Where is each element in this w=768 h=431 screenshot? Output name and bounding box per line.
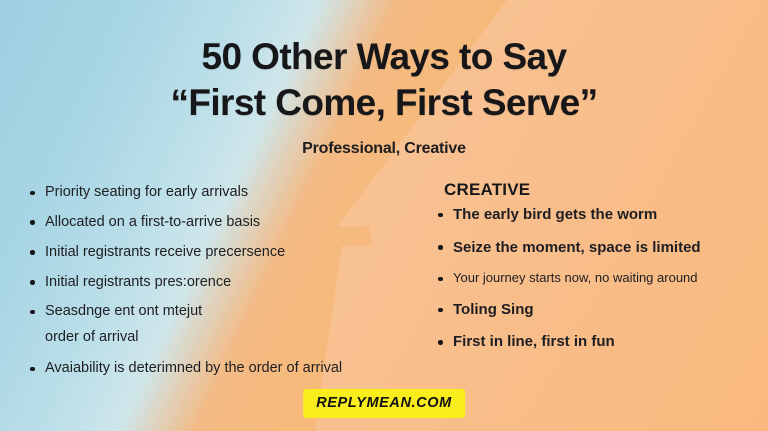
professional-phrase-list: Priority seating for early arrivals Allo… — [24, 183, 424, 378]
list-item-label: Seize the moment, space is limited — [453, 239, 701, 256]
list-item-label: Your journey starts now, no waiting arou… — [453, 270, 698, 285]
list-item-label: Initial registrants receive precersence — [45, 244, 285, 260]
list-item: Seize the moment, space is limited — [432, 238, 762, 258]
list-item: Toling Sing — [432, 300, 762, 320]
creative-phrase-list: The early bird gets the worm Seize the m… — [432, 205, 762, 352]
right-column: CREATIVE The early bird gets the worm Se… — [432, 180, 762, 365]
watermark-badge-label: REPLYMEAN.COM — [316, 395, 452, 411]
list-item: Avaiability is deterimned by the order o… — [24, 359, 424, 378]
list-item-label: The early bird gets the worm — [453, 206, 657, 223]
page-title-line-2: “First Come, First Serve” — [0, 82, 768, 124]
list-item-continuation: order of arrival — [45, 328, 424, 347]
list-item: The early bird gets the worm — [432, 205, 762, 225]
creative-section-heading: CREATIVE — [444, 180, 762, 200]
list-item: Your journey starts now, no waiting arou… — [432, 270, 762, 287]
list-item: Priority seating for early arrivals — [24, 183, 424, 202]
list-item-label: Initial registrants pres:orence — [45, 274, 231, 290]
list-item-label: Priority seating for early arrivals — [45, 184, 248, 200]
poster-header: 50 Other Ways to Say “First Come, First … — [0, 0, 768, 158]
list-item-label: Allocated on a first-to-arrive basis — [45, 214, 260, 230]
poster-canvas: 50 Other Ways to Say “First Come, First … — [0, 0, 768, 431]
list-item: Seasdnge ent ont mtejut order of arrival — [24, 302, 424, 347]
left-column: Priority seating for early arrivals Allo… — [24, 183, 424, 389]
list-item-label: Toling Sing — [453, 301, 534, 318]
list-item: Initial registrants receive precersence — [24, 243, 424, 262]
list-item-label: Seasdnge ent ont mtejut — [45, 303, 202, 319]
list-item-label: Avaiability is deterimned by the order o… — [45, 360, 342, 376]
watermark-badge: REPLYMEAN.COM — [303, 389, 465, 418]
list-item: First in line, first in fun — [432, 332, 762, 352]
list-item: Initial registrants pres:orence — [24, 273, 424, 292]
list-item-label: First in line, first in fun — [453, 333, 615, 350]
list-item: Allocated on a first-to-arrive basis — [24, 213, 424, 232]
page-title-line-1: 50 Other Ways to Say — [0, 36, 768, 78]
page-subtitle: Professional, Creative — [0, 140, 768, 158]
